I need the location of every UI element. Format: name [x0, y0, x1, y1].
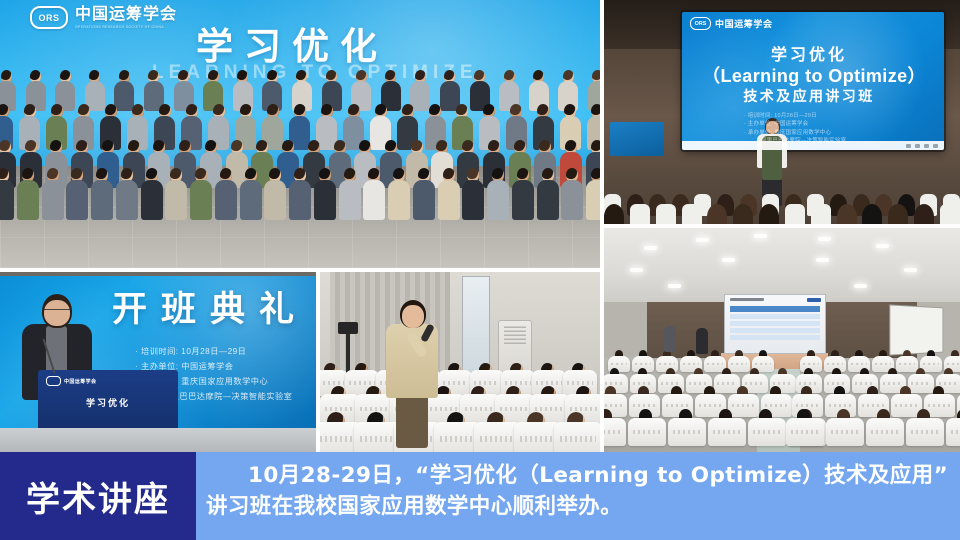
person-figure: [561, 168, 583, 220]
ors-logo-en: OPERATIONS RESEARCH SOCIETY OF CHINA: [75, 25, 177, 29]
person-figure: [664, 326, 676, 352]
person-figure: [42, 168, 64, 220]
ceiling-light: [722, 258, 735, 262]
person-figure: [17, 168, 39, 220]
audience-head: [759, 204, 779, 224]
person-figure: [116, 168, 138, 220]
ceiling-light: [696, 238, 709, 242]
side-monitor: [610, 122, 664, 156]
toolbar-icon: [906, 144, 911, 148]
group-photo: ORS 中国运筹学会 OPERATIONS RESEARCH SOCIETY O…: [0, 0, 600, 268]
ceiling-light: [904, 268, 917, 272]
podium-title: 学习优化: [38, 396, 178, 409]
person-figure: [240, 168, 262, 220]
audience-head: [733, 204, 753, 224]
caption-line-1: 10月28-29日，“学习优化（Learning to Optimize）技术及…: [206, 460, 952, 491]
audience-head: [604, 204, 624, 224]
chair: [786, 418, 824, 446]
slide-bullet-0: · 培训时间: 10月28日—29日: [744, 112, 846, 120]
toolbar-icon: [915, 144, 920, 148]
eyeglasses-icon: [43, 309, 71, 315]
chair: [668, 418, 706, 446]
toolbar-icon: [933, 144, 938, 148]
questioner-figure: [386, 300, 438, 448]
podium-ors-cn: 中国运筹学会: [64, 378, 96, 385]
chair: [728, 394, 759, 417]
ceiling-light: [754, 234, 767, 238]
person-figure: [586, 168, 600, 220]
person-figure: [165, 168, 187, 220]
ors-logo-cn: 中国运筹学会: [75, 7, 177, 23]
chair: [946, 418, 960, 446]
opening-ceremony-photo: 开班典礼 · 培训时间: 10月28日—29日 · 主办单位: 中国运筹学会 ·…: [0, 272, 316, 452]
ceremony-title: 开班典礼: [112, 281, 308, 332]
person-figure: [462, 168, 484, 220]
person-figure: [438, 168, 460, 220]
slide-ors-mark: ORS: [690, 17, 711, 30]
chair: [748, 418, 786, 446]
ceiling-light: [630, 268, 643, 272]
caption-line-2: 讲习班在我校国家应用数学中心顺利举办。: [206, 491, 952, 522]
person-figure: [537, 168, 559, 220]
podium-ors-mark: [46, 376, 61, 386]
person-figure: [66, 168, 88, 220]
caption-badge: 学术讲座: [0, 452, 196, 540]
person-figure: [190, 168, 212, 220]
speaker-with-slide-photo: ORS 中国运筹学会 学习优化 （Learning to Optimize） 技…: [604, 0, 960, 224]
audience-head: [837, 204, 857, 224]
seated-audience: [320, 368, 600, 452]
chair: [826, 418, 864, 446]
caption-badge-label: 学术讲座: [26, 472, 170, 521]
ceiling-light: [644, 246, 657, 250]
chair: [628, 418, 666, 446]
person-figure: [91, 168, 113, 220]
chair: [728, 356, 750, 372]
person-figure: [314, 168, 336, 220]
chair: [908, 374, 934, 393]
ceiling: [604, 228, 960, 302]
podium: 中国运筹学会 学习优化: [38, 370, 178, 428]
slide-ors-logo: ORS 中国运筹学会: [690, 17, 773, 30]
person-figure: [363, 168, 385, 220]
slide-title-line2: （Learning to Optimize）: [692, 62, 936, 88]
chair: [906, 418, 944, 446]
audience-head: [914, 204, 934, 224]
whiteboard: [889, 304, 943, 355]
ceiling-light: [816, 258, 829, 262]
slide-ors-cn: 中国运筹学会: [715, 17, 773, 30]
ceiling-light: [818, 237, 831, 241]
person-figure: [141, 168, 163, 220]
caption-text: 10月28-29日，“学习优化（Learning to Optimize）技术及…: [206, 460, 952, 522]
chair: [714, 374, 740, 393]
podium-ors-logo: 中国运筹学会: [46, 376, 96, 386]
slide-bullet-1: · 主办单位: 中国运筹学会: [744, 120, 846, 128]
chair: [604, 418, 626, 446]
ors-logo: ORS 中国运筹学会 OPERATIONS RESEARCH SOCIETY O…: [30, 6, 177, 29]
slide-title-line3: 技术及应用讲习班: [682, 86, 936, 106]
person-figure: [264, 168, 286, 220]
ors-mark: ORS: [30, 6, 68, 29]
toolbar-icon: [924, 144, 929, 148]
audience-head: [888, 204, 908, 224]
audience-head: [862, 204, 882, 224]
ceiling-light: [876, 244, 889, 248]
person-figure: [289, 168, 311, 220]
chair: [866, 418, 904, 446]
poster-collage: ORS 中国运筹学会 OPERATIONS RESEARCH SOCIETY O…: [0, 0, 960, 540]
audience-head: [656, 204, 676, 224]
audience-head: [682, 204, 702, 224]
person-figure: [413, 168, 435, 220]
hall-projection-screen: [724, 294, 826, 354]
slide-bullet-2: · 承办单位: 重庆国家应用数学中心: [744, 129, 846, 137]
chair: [708, 418, 746, 446]
audience-head: [707, 204, 727, 224]
person-figure: [388, 168, 410, 220]
screen-toolbar: [682, 141, 944, 150]
person-figure: [215, 168, 237, 220]
person-figure: [0, 168, 14, 220]
lecture-hall-photo: [604, 228, 960, 452]
projection-screen: ORS 中国运筹学会 学习优化 （Learning to Optimize） 技…: [682, 12, 944, 150]
person-figure: [512, 168, 534, 220]
ceremony-bullet-0: · 培训时间: 10月28日—29日: [135, 344, 292, 359]
ceiling-light: [854, 284, 867, 288]
audience-question-photo: [320, 272, 600, 452]
person-figure: [487, 168, 509, 220]
audience-head: [940, 204, 960, 224]
audience-head: [630, 204, 650, 224]
audience-head: [811, 204, 831, 224]
chair: [896, 356, 918, 372]
ceiling-light: [668, 284, 681, 288]
audience-head: [785, 204, 805, 224]
chair: [554, 422, 600, 452]
person-figure: [696, 328, 708, 354]
person-figure: [339, 168, 361, 220]
caption-bar: 学术讲座 10月28-29日，“学习优化（Learning to Optimiz…: [0, 452, 960, 540]
